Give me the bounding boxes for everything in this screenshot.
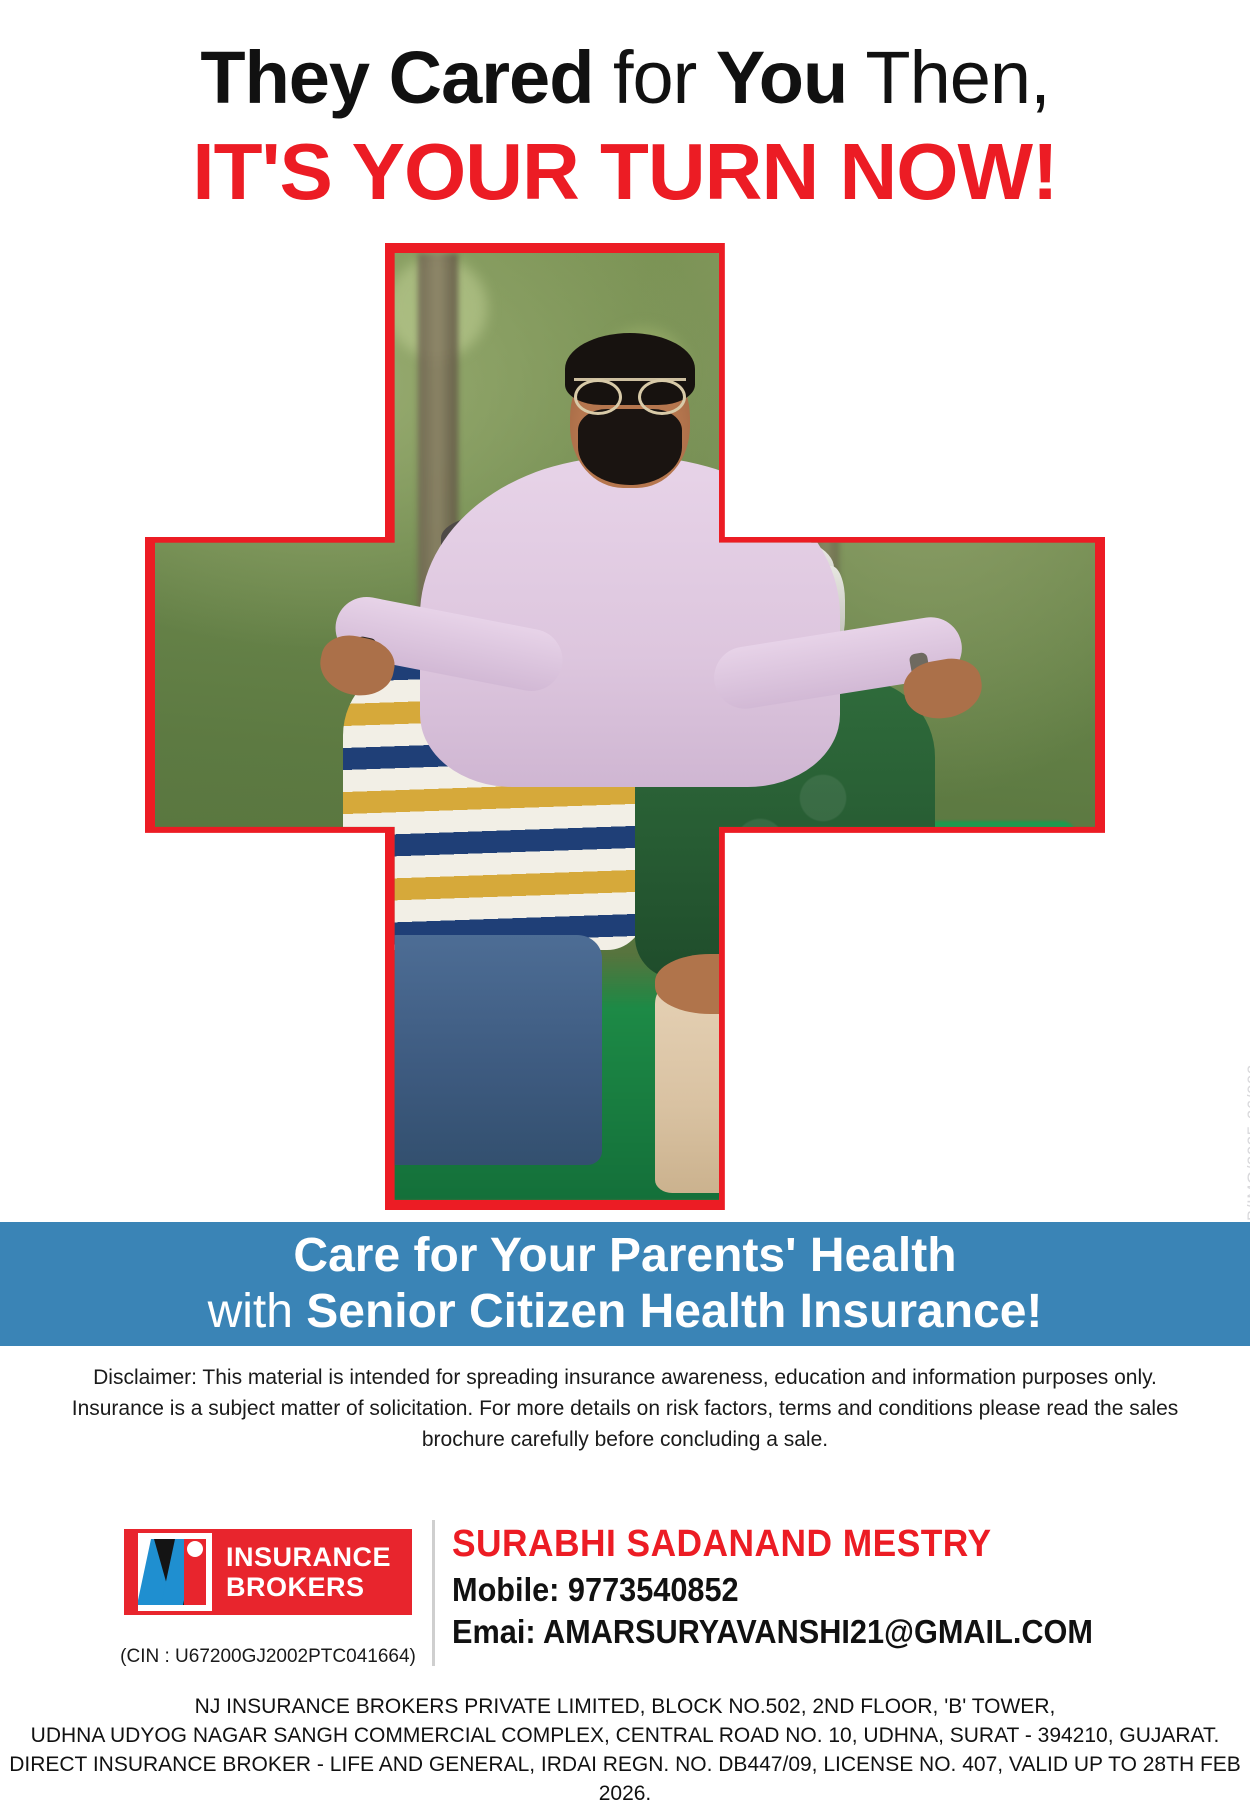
headline-for: for (593, 36, 715, 119)
company-footer: NJ INSURANCE BROKERS PRIVATE LIMITED, BL… (0, 1692, 1250, 1808)
headline-line-1: They Cared for You Then, (0, 36, 1250, 120)
son-beard (578, 409, 682, 485)
disclaimer-text: Disclaimer: This material is intended fo… (70, 1362, 1180, 1455)
nj-logo-dot (187, 1541, 203, 1557)
agent-name: SURABHI SADANAND MESTRY (452, 1522, 992, 1566)
park-bench (155, 954, 1095, 1200)
family-photo (155, 253, 1095, 1200)
mother-hands (655, 954, 775, 1014)
tagline-product: Senior Citizen Health Insurance! (306, 1285, 1042, 1338)
poster-headline: They Cared for You Then, IT'S YOUR TURN … (0, 36, 1250, 216)
tagline-line-1: Care for Your Parents' Health (293, 1228, 956, 1283)
logo-wordmark: INSURANCE BROKERS (226, 1542, 391, 1602)
footer-line-1: NJ INSURANCE BROKERS PRIVATE LIMITED, BL… (0, 1692, 1250, 1721)
vertical-divider (432, 1520, 435, 1666)
headline-they-cared: They Cared (200, 36, 593, 119)
footer-line-2: UDHNA UDYOG NAGAR SANGH COMMERCIAL COMPL… (0, 1721, 1250, 1750)
cin-number: (CIN : U67200GJ2002PTC041664) (118, 1646, 418, 1668)
agent-mobile[interactable]: Mobile: 9773540852 (452, 1570, 739, 1610)
bench-rail-lower (869, 935, 1076, 992)
cross-photo-frame (145, 243, 1105, 1210)
footer-line-3: DIRECT INSURANCE BROKER - LIFE AND GENER… (0, 1750, 1250, 1808)
tagline-banner: Care for Your Parents' Health with Senio… (0, 1222, 1250, 1346)
son-glasses-icon (574, 378, 686, 407)
headline-line-2: IT'S YOUR TURN NOW! (0, 128, 1250, 216)
nj-insurance-brokers-logo: INSURANCE BROKERS (124, 1524, 412, 1620)
headline-you: You (716, 36, 847, 119)
tagline-with: with (208, 1285, 307, 1338)
headline-then: Then, (847, 36, 1049, 119)
nj-logo-mark-icon (138, 1533, 212, 1611)
contact-section: INSURANCE BROKERS (CIN : U67200GJ2002PTC… (0, 1520, 1250, 1670)
logo-line-brokers: BROKERS (226, 1572, 391, 1602)
photo-background (155, 253, 1095, 1200)
logo-line-insurance: INSURANCE (226, 1542, 391, 1572)
agent-email[interactable]: Emai: AMARSURYAVANSHI21@GMAIL.COM (452, 1612, 1093, 1652)
tagline-line-2: with Senior Citizen Health Insurance! (208, 1283, 1043, 1340)
